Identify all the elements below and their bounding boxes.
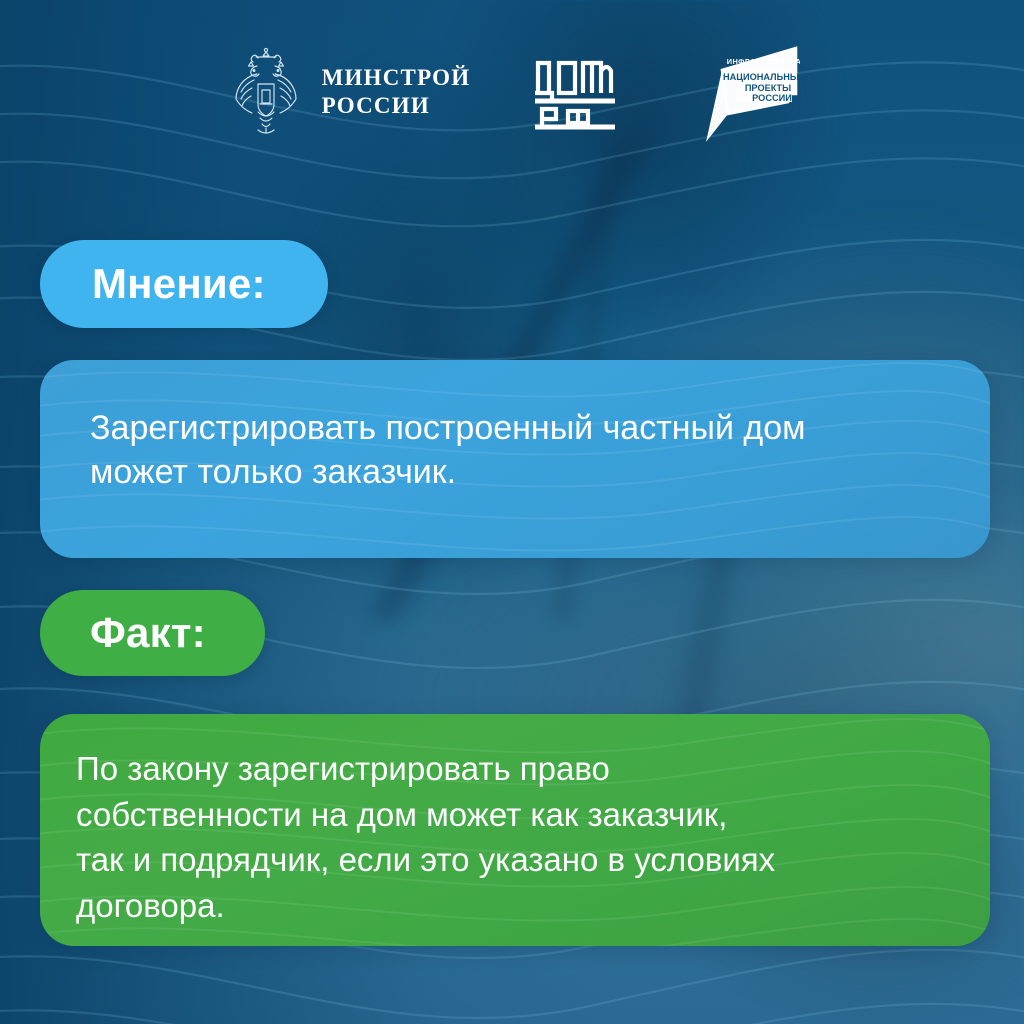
opinion-text: Зарегистрировать построенный частный дом…	[40, 360, 990, 494]
poster-canvas: МИНСТРОЙ РОССИИ	[0, 0, 1024, 1024]
svg-text:РОССИИ: РОССИИ	[753, 93, 793, 103]
minstroy-line-2: РОССИИ	[322, 92, 471, 120]
national-projects-mark-icon: ИНФРАСТРУКТУРА НАЦИОНАЛЬНЫЕ ПРОЕКТЫ РОСС…	[692, 36, 800, 144]
fact-card: По закону зарегистрировать право собстве…	[40, 714, 990, 946]
double-headed-eagle-icon	[224, 44, 308, 140]
fact-text: По закону зарегистрировать право собстве…	[40, 714, 990, 928]
national-projects-logo: ИНФРАСТРУКТУРА НАЦИОНАЛЬНЫЕ ПРОЕКТЫ РОСС…	[692, 36, 800, 149]
opinion-badge-label: Мнение:	[92, 260, 266, 308]
svg-text:ИНФРАСТРУКТУРА: ИНФРАСТРУКТУРА	[727, 57, 800, 66]
fact-badge-label: Факт:	[90, 609, 206, 657]
fact-badge: Факт:	[40, 590, 265, 676]
minstroy-line-1: МИНСТРОЙ	[322, 64, 471, 92]
header-logo-bar: МИНСТРОЙ РОССИИ	[0, 34, 1024, 150]
minstroy-rossii-logo: МИНСТРОЙ РОССИИ	[224, 44, 471, 140]
dom-rf-mark-icon	[530, 49, 620, 131]
svg-text:ПРОЕКТЫ: ПРОЕКТЫ	[745, 83, 791, 93]
svg-text:НАЦИОНАЛЬНЫЕ: НАЦИОНАЛЬНЫЕ	[723, 72, 800, 82]
opinion-card: Зарегистрировать построенный частный дом…	[40, 360, 990, 558]
minstroy-wordmark: МИНСТРОЙ РОССИИ	[322, 64, 471, 120]
opinion-badge: Мнение:	[40, 240, 328, 328]
dom-rf-logo	[530, 49, 620, 136]
